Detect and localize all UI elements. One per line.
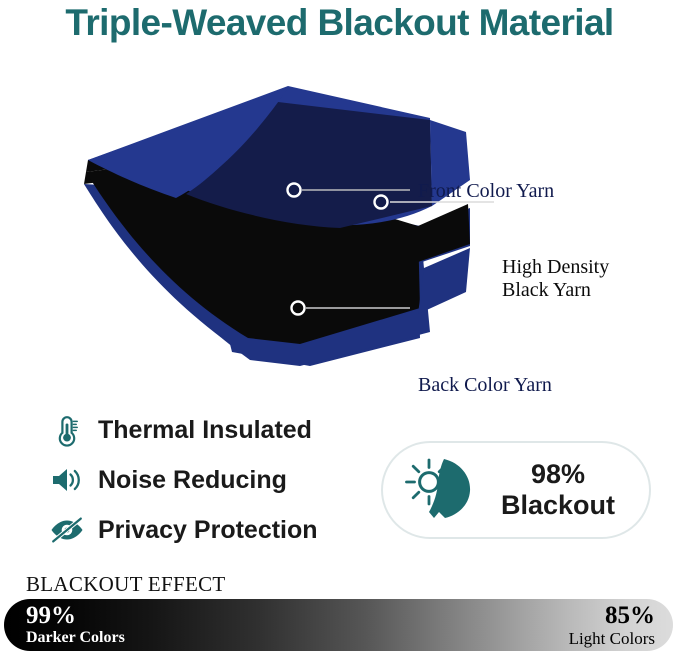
label-high-density-black-yarn: High Density Black Yarn bbox=[502, 256, 672, 302]
bar-left-caption: Darker Colors bbox=[26, 630, 125, 646]
badge-text: 98% Blackout bbox=[477, 459, 649, 521]
feature-label-privacy-protection: Privacy Protection bbox=[98, 516, 318, 545]
eye-slash-icon bbox=[48, 511, 86, 549]
feature-label-noise-reducing: Noise Reducing bbox=[98, 466, 287, 495]
feature-list: Thermal Insulated Noise Reducing Privacy… bbox=[48, 408, 358, 558]
label-back-color-yarn: Back Color Yarn bbox=[418, 374, 552, 397]
badge-percent: 98% bbox=[531, 459, 585, 489]
blackout-effect-gradient-bar: 99% Darker Colors 85% Light Colors bbox=[4, 599, 673, 651]
bar-right-caption: Light Colors bbox=[569, 630, 655, 647]
sun-blocked-by-curtain-icon bbox=[399, 455, 477, 525]
fabric-layers-diagram: Front Color Yarn High Density Black Yarn… bbox=[0, 76, 679, 366]
label-black-line2: Black Yarn bbox=[502, 279, 591, 301]
page-title: Triple-Weaved Blackout Material bbox=[0, 2, 679, 44]
label-black-line1: High Density bbox=[502, 256, 609, 278]
bar-left-percent: 99% bbox=[26, 603, 125, 628]
blackout-badge: 98% Blackout bbox=[381, 441, 651, 539]
blackout-effect-title: BLACKOUT EFFECT bbox=[26, 572, 226, 597]
bar-left-stat: 99% Darker Colors bbox=[26, 603, 125, 646]
feature-thermal-insulated: Thermal Insulated bbox=[48, 408, 358, 452]
badge-caption: Blackout bbox=[501, 490, 615, 520]
speaker-sound-icon bbox=[48, 461, 86, 499]
label-front-color-yarn: Front Color Yarn bbox=[418, 180, 554, 203]
feature-noise-reducing: Noise Reducing bbox=[48, 458, 358, 502]
thermometer-icon bbox=[48, 411, 86, 449]
feature-label-thermal-insulated: Thermal Insulated bbox=[98, 416, 312, 445]
bar-right-percent: 85% bbox=[569, 603, 655, 628]
bar-right-stat: 85% Light Colors bbox=[569, 603, 655, 647]
feature-privacy-protection: Privacy Protection bbox=[48, 508, 358, 552]
